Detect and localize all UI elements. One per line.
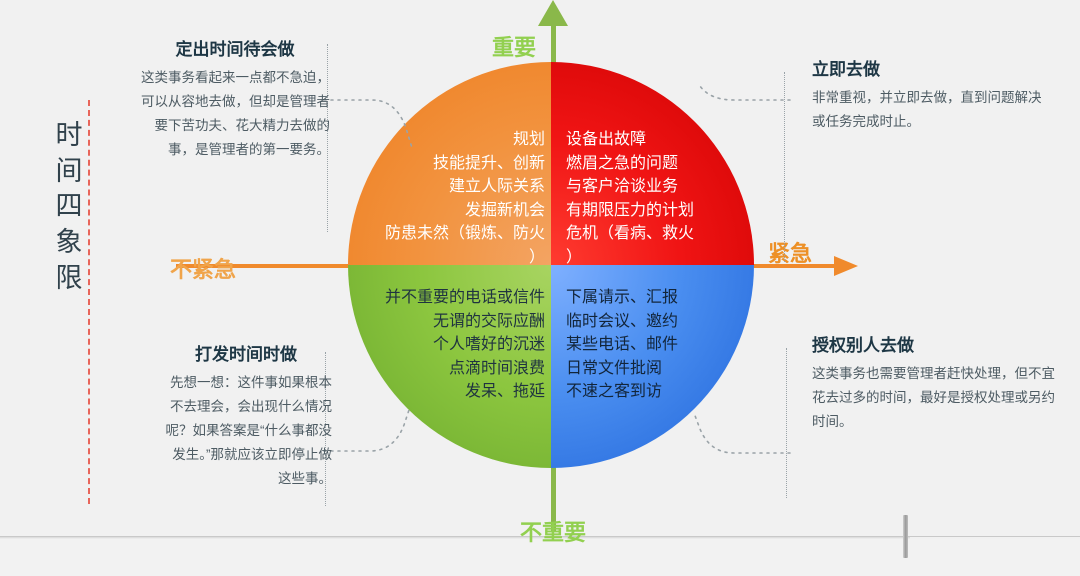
axis-label-not-important: 不重要	[520, 515, 586, 547]
axis-label-important: 重要	[492, 30, 536, 62]
quadrant-items-not-important-not-urgent: 并不重要的电话或信件 无谓的交际应酬 个人嗜好的沉迷 点滴时间浪费 发呆、拖延	[340, 286, 545, 404]
description-bottom-left-title: 打发时间时做	[160, 343, 332, 367]
diagram-vertical-title: 时间 四 象 限	[46, 118, 92, 296]
connector-bottom-right	[690, 395, 795, 475]
description-top-left-title: 定出时间待会做	[140, 38, 330, 62]
left-dashed-divider	[88, 100, 90, 504]
x-axis-arrowhead-icon	[834, 256, 858, 276]
axis-label-not-urgent: 不紧急	[170, 252, 236, 284]
axis-label-urgent: 紧急	[768, 236, 812, 268]
description-bottom-left: 打发时间时做 先想一想：这件事如果根本不去理会，会出现什么情况呢？如果答案是“什…	[160, 343, 332, 491]
description-top-right: 立即去做 非常重视，并立即去做，直到问题解决或任务完成时止。	[812, 58, 1042, 134]
connector-top-right	[690, 84, 795, 154]
connector-top-left	[320, 84, 430, 164]
y-axis-arrowhead-icon	[538, 0, 568, 26]
description-bottom-left-body: 先想一想：这件事如果根本不去理会，会出现什么情况呢？如果答案是“什么事都没发生。…	[160, 371, 332, 491]
description-bottom-right: 授权别人去做 这类事务也需要管理者赶快处理，但不宜花去过多的时间，最好是授权处理…	[812, 334, 1060, 434]
description-top-right-title: 立即去做	[812, 58, 1042, 82]
quadrant-items-not-important-urgent: 下属请示、汇报 临时会议、邀约 某些电话、邮件 日常文件批阅 不速之客到访	[566, 286, 766, 404]
connector-bottom-left	[320, 395, 430, 475]
description-bottom-right-title: 授权别人去做	[812, 334, 1060, 358]
slide-canvas: 时间 四 象 限 重要 不重要 紧急 不紧急 规划 技能提升、创新 建立人际关系…	[0, 0, 1080, 576]
description-bottom-right-body: 这类事务也需要管理者赶快处理，但不宜花去过多的时间，最好是授权处理或另约时间。	[812, 362, 1060, 434]
scrollbar-thumb[interactable]	[903, 515, 908, 558]
description-top-left-body: 这类事务看起来一点都不急迫，可以从容地去做，但却是管理者要下苦功夫、花大精力去做…	[140, 66, 330, 162]
description-top-left: 定出时间待会做 这类事务看起来一点都不急迫，可以从容地去做，但却是管理者要下苦功…	[140, 38, 330, 162]
description-top-right-body: 非常重视，并立即去做，直到问题解决或任务完成时止。	[812, 86, 1042, 134]
